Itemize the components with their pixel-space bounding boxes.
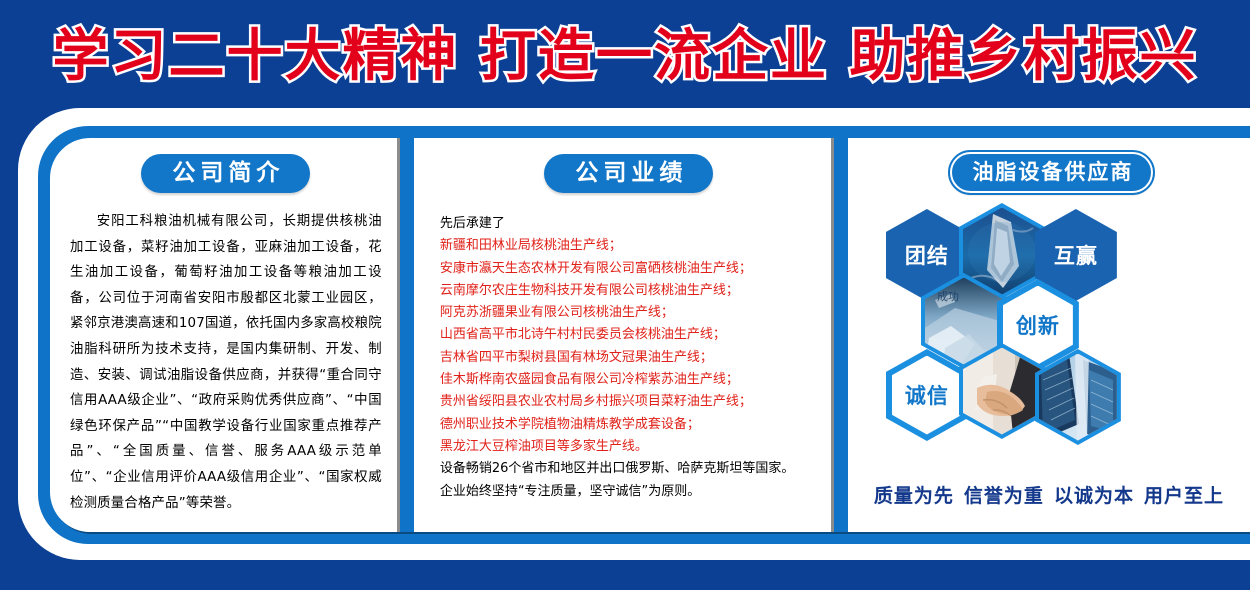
supplier-slogan: 质量为先信誉为重以诚为本用户至上 — [848, 481, 1250, 508]
hexagon-innovation-label: 创新 — [1016, 310, 1060, 340]
section-title-company-intro: 公司简介 — [141, 154, 310, 193]
section-title-company-performance: 公司业绩 — [544, 154, 713, 193]
slogan-part-4: 用户至上 — [1144, 485, 1224, 507]
page-title: 学习二十大精神 打造一流企业 助推乡村振兴 — [0, 26, 1250, 88]
performance-item: 新疆和田林业局核桃油生产线； — [440, 235, 818, 257]
performance-footer-line: 企业始终坚持“专注质量，坚守诚信”为原则。 — [440, 481, 818, 503]
performance-item: 德州职业技术学院植物油精炼教学成套设备； — [440, 414, 818, 436]
header-band: 学习二十大精神 打造一流企业 助推乡村振兴 — [0, 0, 1250, 108]
performance-item: 黑龙江大豆榨油项目等多家生产线。 — [440, 436, 818, 458]
poster-root: 学习二十大精神 打造一流企业 助推乡村振兴 公司简介 安阳工科粮油机械有限公司，… — [0, 0, 1250, 590]
content-columns: 公司简介 安阳工科粮油机械有限公司，长期提供核桃油加工设备，菜籽油加工设备，亚麻… — [50, 138, 1250, 532]
skyscraper-icon — [1039, 354, 1117, 441]
performance-item: 山西省高平市北诗午村村民委员会核桃油生产线； — [440, 324, 818, 346]
slogan-part-3: 以诚为本 — [1054, 485, 1134, 507]
hexagon-cluster: 团结 — [864, 203, 1240, 455]
performance-body: 先后承建了 新疆和田林业局核桃油生产线； 安康市瀛天生态农林开发有限公司富硒核桃… — [440, 213, 818, 503]
svg-text:成功: 成功 — [937, 290, 959, 303]
performance-item: 吉林省四平市梨树县国有林场文冠果油生产线； — [440, 347, 818, 369]
column-divider-1 — [400, 138, 414, 532]
performance-item: 贵州省绥阳县农业农村局乡村振兴项目菜籽油生产线； — [440, 391, 818, 413]
panel-company-intro: 公司简介 安阳工科粮油机械有限公司，长期提供核桃油加工设备，菜籽油加工设备，亚麻… — [50, 138, 400, 532]
section-title-oil-equipment-supplier: 油脂设备供应商 — [950, 152, 1153, 193]
performance-item: 云南摩尔农庄生物科技开发有限公司核桃油生产线； — [440, 280, 818, 302]
panel-title-wrap-left: 公司简介 — [70, 154, 382, 193]
column-divider-2 — [834, 138, 848, 532]
company-intro-body: 安阳工科粮油机械有限公司，长期提供核桃油加工设备，菜籽油加工设备，亚麻油加工设备… — [70, 209, 382, 516]
hexagon-mutual-win-label: 互赢 — [1054, 240, 1098, 270]
hexagon-integrity-inner: 诚信 — [892, 356, 962, 435]
handshake-icon — [963, 348, 1041, 435]
hexagon-integrity-label: 诚信 — [905, 380, 949, 410]
performance-item: 阿克苏浙疆果业有限公司核桃油生产线； — [440, 302, 818, 324]
panel-title-wrap-right: 油脂设备供应商 — [864, 152, 1240, 193]
performance-footer-line: 设备畅销26个省市和地区并出口俄罗斯、哈萨克斯坦等国家。 — [440, 458, 818, 480]
panel-title-wrap-mid: 公司业绩 — [440, 154, 818, 193]
panel-company-performance: 公司业绩 先后承建了 新疆和田林业局核桃油生产线； 安康市瀛天生态农林开发有限公… — [414, 138, 834, 532]
performance-intro: 先后承建了 — [440, 213, 818, 235]
slogan-part-2: 信誉为重 — [964, 485, 1044, 507]
performance-item: 安康市瀛天生态农林开发有限公司富硒核桃油生产线； — [440, 258, 818, 280]
performance-item: 佳木斯桦南农盛园食品有限公司冷榨紫苏油生产线； — [440, 369, 818, 391]
slogan-part-1: 质量为先 — [874, 485, 954, 507]
panel-supplier: 油脂设备供应商 团结 — [848, 138, 1250, 532]
hexagon-unity-label: 团结 — [905, 240, 949, 270]
